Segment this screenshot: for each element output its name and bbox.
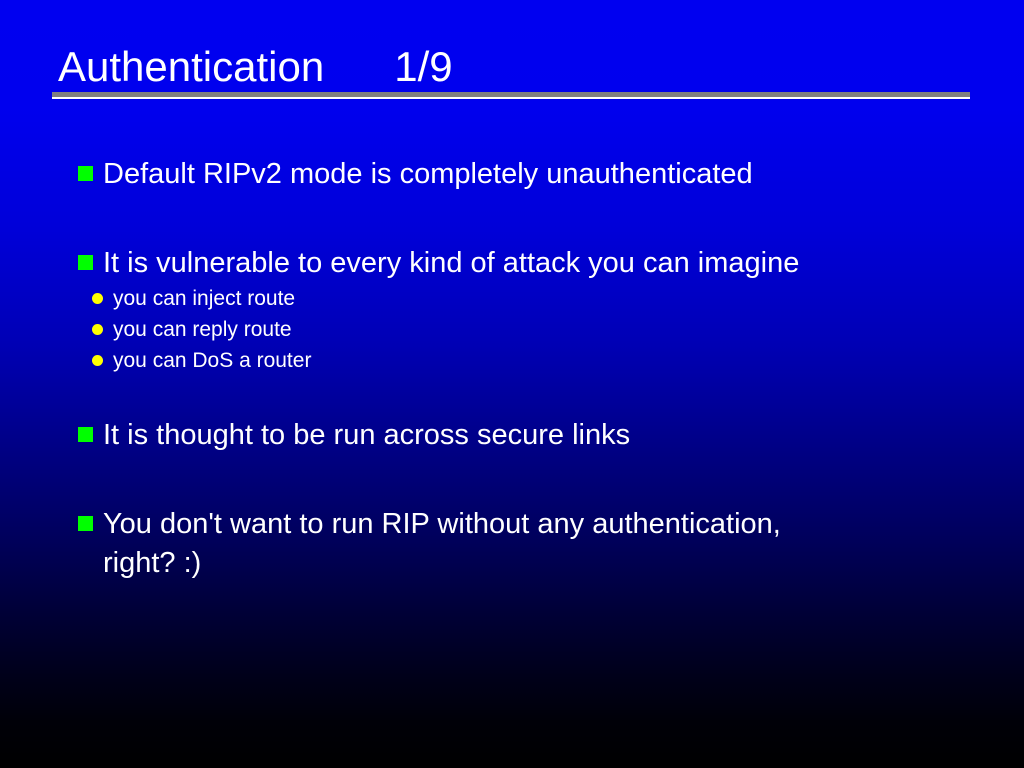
green-square-bullet-icon bbox=[78, 166, 93, 181]
bullet-text: It is vulnerable to every kind of attack… bbox=[78, 244, 978, 283]
bullet-text: It is thought to be run across secure li… bbox=[78, 416, 978, 455]
yellow-round-bullet-icon bbox=[92, 293, 103, 304]
bullet-item-level2: you can DoS a router bbox=[92, 345, 892, 376]
bullet-item-level2: you can reply route bbox=[92, 314, 892, 345]
bullet-text: you can DoS a router bbox=[92, 345, 892, 376]
bullet-item-level1: Default RIPv2 mode is completely unauthe… bbox=[78, 155, 978, 194]
bullet-text: Default RIPv2 mode is completely unauthe… bbox=[78, 155, 978, 194]
bullet-text: you can reply route bbox=[92, 314, 892, 345]
yellow-round-bullet-icon bbox=[92, 324, 103, 335]
green-square-bullet-icon bbox=[78, 516, 93, 531]
bullet-item-level1: You don't want to run RIP without any au… bbox=[78, 505, 978, 583]
green-square-bullet-icon bbox=[78, 427, 93, 442]
bullet-item-level1: It is thought to be run across secure li… bbox=[78, 416, 978, 455]
bullet-text: You don't want to run RIP without any au… bbox=[78, 505, 978, 583]
presentation-slide: Authentication 1/9 Default RIPv2 mode is… bbox=[0, 0, 1024, 768]
bullet-text: you can inject route bbox=[92, 283, 892, 314]
yellow-round-bullet-icon bbox=[92, 355, 103, 366]
bullet-item-level2: you can inject route bbox=[92, 283, 892, 314]
bullet-item-level1: It is vulnerable to every kind of attack… bbox=[78, 244, 978, 283]
separator-highlight bbox=[52, 97, 970, 99]
slide-title-block: Authentication 1/9 bbox=[52, 44, 972, 90]
green-square-bullet-icon bbox=[78, 255, 93, 270]
title-separator-rule bbox=[52, 92, 970, 99]
page-title: Authentication 1/9 bbox=[52, 44, 972, 90]
